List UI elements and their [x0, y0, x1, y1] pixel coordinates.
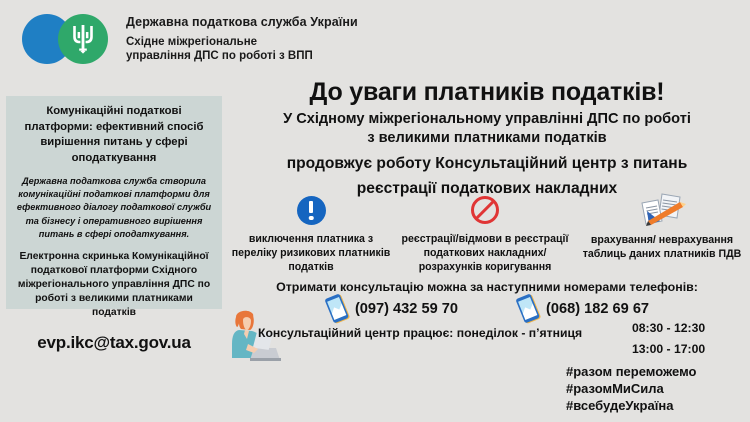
- feature-icon-wrap: [396, 190, 574, 230]
- panel-italic-text: Державна податкова служба створила комун…: [13, 175, 215, 240]
- feature-caption: врахування/ неврахування таблиць даних п…: [574, 233, 750, 261]
- feature-icon-wrap: [574, 190, 750, 232]
- feature-columns: виключення платника з переліку ризикових…: [226, 190, 750, 274]
- documents-pen-icon: [636, 191, 688, 231]
- feature-item-registration: реєстрації/відмови в реєстрації податков…: [396, 190, 574, 274]
- prohibition-icon: [471, 196, 499, 224]
- hashtag-item: #разом переможемо: [566, 363, 696, 380]
- email-address[interactable]: evp.ikc@tax.gov.ua: [13, 333, 215, 353]
- subtitle-line-2: з великими платниками податків: [226, 129, 748, 148]
- poster-canvas: Державна податкова служба України Східне…: [0, 0, 750, 422]
- dps-logo: [22, 14, 114, 64]
- schedule-hours: 08:30 - 12:30 13:00 - 17:00: [632, 318, 705, 360]
- subtitle-line-1: У Східному міжрегіональному управлінні Д…: [226, 110, 748, 129]
- feature-caption: реєстрації/відмови в реєстрації податков…: [396, 232, 574, 274]
- panel-subheading: Електронна скринька Комунікаційної подат…: [13, 250, 215, 321]
- panel-heading: Комунікаційні податкові платформи: ефект…: [13, 104, 215, 166]
- org-line-3: управління ДПС по роботі з ВПП: [126, 49, 358, 63]
- ukraine-trident-icon: [71, 24, 95, 54]
- org-line-1: Державна податкова служба України: [126, 15, 358, 30]
- schedule-label: Консультаційний центр працює: понеділок …: [258, 318, 582, 340]
- phones-intro: Отримати консультацію можна за наступним…: [226, 280, 748, 294]
- hashtag-item: #разомМиСила: [566, 380, 696, 397]
- hours-morning: 08:30 - 12:30: [632, 318, 705, 339]
- subtitle-line-3: продовжує роботу Консультаційний центр з…: [226, 154, 748, 174]
- hours-afternoon: 13:00 - 17:00: [632, 339, 705, 360]
- page-subtitle: У Східному міжрегіональному управлінні Д…: [226, 110, 748, 199]
- feature-item-risky-taxpayers: виключення платника з переліку ризикових…: [226, 190, 396, 274]
- org-names: Державна податкова служба України Східне…: [126, 15, 358, 63]
- hashtags: #разом переможемо #разомМиСила #всебудеУ…: [566, 363, 696, 414]
- feature-icon-wrap: [226, 190, 396, 230]
- phone-number-value: (097) 432 59 70: [355, 301, 458, 317]
- phone-number-value: (068) 182 69 67: [546, 301, 649, 317]
- exclamation-circle-icon: [297, 196, 326, 225]
- page-title: До уваги платників податків!: [226, 78, 748, 107]
- feature-item-data-tables: врахування/ неврахування таблиць даних п…: [574, 190, 750, 261]
- org-line-2: Східне міжрегіональне: [126, 35, 358, 49]
- header: Державна податкова служба України Східне…: [22, 14, 358, 64]
- hashtag-item: #всебудеУкраїна: [566, 397, 696, 414]
- feature-caption: виключення платника з переліку ризикових…: [226, 232, 396, 274]
- communication-platform-panel: Комунікаційні податкові платформи: ефект…: [6, 96, 222, 309]
